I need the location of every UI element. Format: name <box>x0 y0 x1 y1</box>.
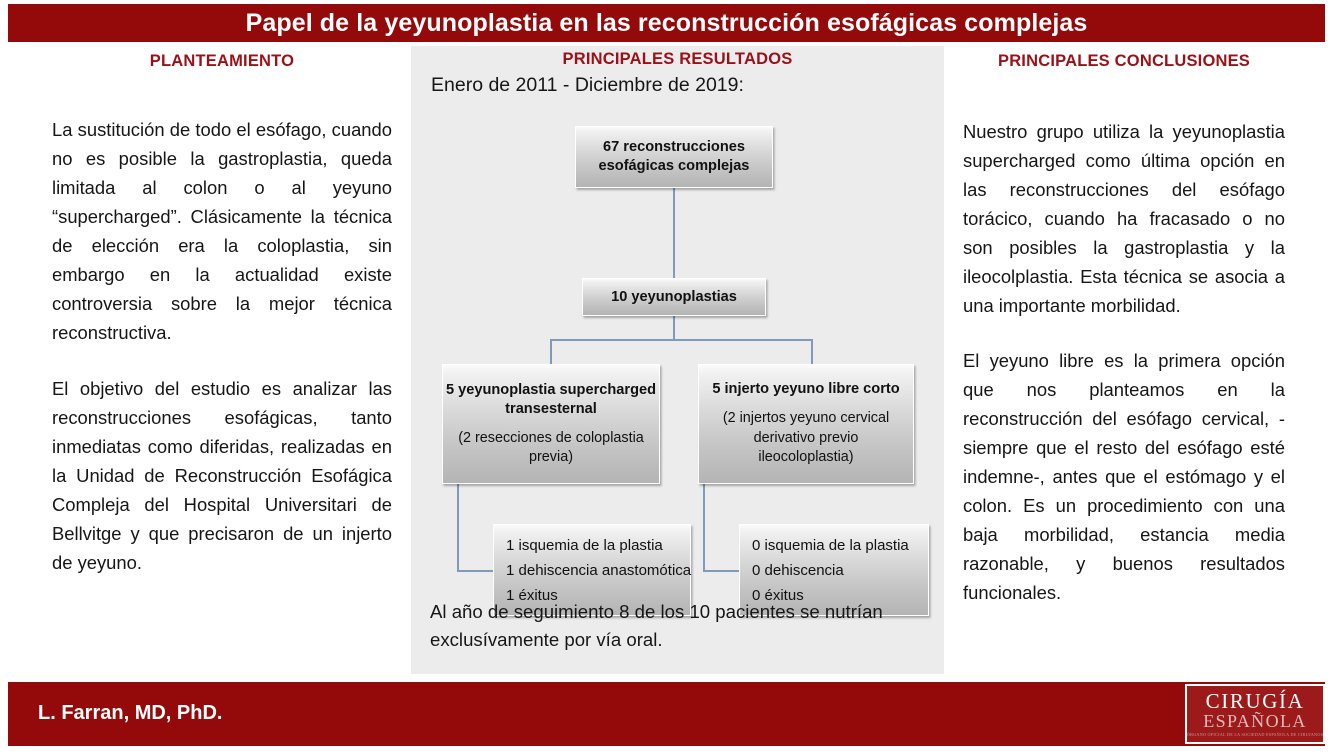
connector-total-to-jejuno <box>673 188 675 278</box>
connector-injerto-to-outcomes <box>703 484 705 570</box>
flow-box-supercharged: 5 yeyunoplastia supercharged transestern… <box>442 364 660 484</box>
connector-jejuno-down <box>673 316 675 340</box>
page-title: Papel de la yeyunoplastia en las reconst… <box>246 9 1088 38</box>
connector-split-horizontal <box>550 339 812 341</box>
flow-supercharged-title-2: transesternal <box>505 400 597 419</box>
connector-split-left-down <box>550 339 552 365</box>
connector-injerto-to-outcomes-h <box>703 570 740 572</box>
connector-super-to-outcomes-h <box>457 570 494 572</box>
conclusiones-paragraph-1: Nuestro grupo utiliza la yeyunoplastia s… <box>963 117 1285 320</box>
flow-graft-sub-1: (2 injertos yeyuno cervical <box>723 409 889 429</box>
logo-line-subtitle: ÓRGANO OFICIAL DE LA SOCIEDAD ESPAÑOLA D… <box>1187 732 1323 738</box>
flow-supercharged-sub-1: (2 resecciones de coloplastia <box>458 429 644 449</box>
outcome-item: 0 dehiscencia <box>752 558 844 583</box>
resultados-heading: PRINCIPALES RESULTADOS <box>411 50 944 69</box>
flow-total-line2: esofágicas complejas <box>599 157 750 176</box>
flow-graft-sub-3: ileocoloplastia) <box>758 448 853 468</box>
poster-title-bar: Papel de la yeyunoplastia en las reconst… <box>8 4 1325 42</box>
followup-note: Al año de seguimiento 8 de los 10 pacien… <box>430 598 935 654</box>
flow-box-jejunoplasties: 10 yeyunoplastias <box>582 278 766 316</box>
flow-box-total-reconstructions: 67 reconstrucciones esofágicas complejas <box>575 126 773 188</box>
flow-jejunoplasties-line1: 10 yeyunoplastias <box>611 288 737 307</box>
connector-split-right-down <box>811 339 813 365</box>
planteamiento-heading: PLANTEAMIENTO <box>52 52 392 71</box>
flow-supercharged-title-1: 5 yeyunoplastia supercharged <box>446 381 656 400</box>
outcome-item: 1 isquemia de la plastia <box>506 533 663 558</box>
section-principales-conclusiones: PRINCIPALES CONCLUSIONES Nuestro grupo u… <box>963 52 1285 607</box>
cirugia-espanola-logo: CIRUGÍA ESPAÑOLA ÓRGANO OFICIAL DE LA SO… <box>1185 684 1325 744</box>
conclusiones-heading: PRINCIPALES CONCLUSIONES <box>963 52 1285 71</box>
section-principales-resultados: PRINCIPALES RESULTADOS Enero de 2011 - D… <box>411 46 944 674</box>
flow-graft-title-1: 5 injerto yeyuno libre corto <box>712 380 899 399</box>
flow-total-line1: 67 reconstrucciones <box>603 138 745 157</box>
flow-box-free-jejunal-graft: 5 injerto yeyuno libre corto (2 injertos… <box>698 364 914 484</box>
author-name: L. Farran, MD, PhD. <box>38 702 222 725</box>
conclusiones-paragraph-2: El yeyuno libre es la primera opción que… <box>963 346 1285 607</box>
logo-line-cirugia: CIRUGÍA <box>1206 691 1305 712</box>
logo-line-espanola: ESPAÑOLA <box>1203 712 1307 731</box>
planteamiento-paragraph-1: La sustitución de todo el esófago, cuand… <box>52 115 392 347</box>
study-date-range: Enero de 2011 - Diciembre de 2019: <box>431 74 744 97</box>
planteamiento-paragraph-2: El objetivo del estudio es analizar las … <box>52 374 392 577</box>
outcome-item: 0 isquemia de la plastia <box>752 533 909 558</box>
connector-super-to-outcomes <box>457 484 459 570</box>
flow-graft-sub-2: derivativo previo <box>754 429 859 449</box>
section-planteamiento: PLANTEAMIENTO La sustitución de todo el … <box>52 52 392 577</box>
flow-supercharged-sub-2: previa) <box>529 448 573 468</box>
outcome-item: 1 dehiscencia anastomótica <box>506 558 691 583</box>
